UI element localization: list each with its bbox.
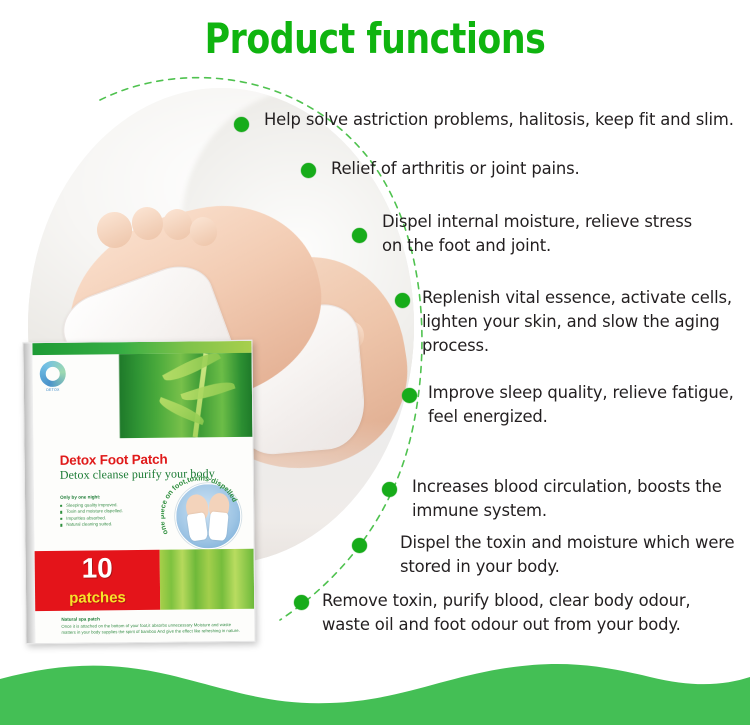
- function-text-sleep: Improve sleep quality, relieve fatigue, …: [428, 381, 742, 429]
- box-bottom-heading: Natural spa patch: [61, 616, 100, 621]
- inset-patch: [186, 513, 208, 542]
- box-feature-item: Natural cleaning suited.: [60, 521, 123, 528]
- product-package-image: DETOX Detox Foot Patch Detox cleanse pur…: [22, 340, 255, 644]
- brand-logo-icon: DETOX: [40, 361, 66, 387]
- box-feet-inset-photo: [175, 483, 242, 550]
- bullet-dot-vital-essence: [395, 293, 410, 308]
- logo-text: DETOX: [40, 388, 66, 392]
- box-quantity-word: patches: [69, 590, 126, 606]
- box-product-title: Detox Foot Patch: [60, 452, 168, 468]
- inset-patch: [208, 512, 228, 542]
- box-bottom-description: Once it is attached on the bottom of you…: [61, 622, 246, 636]
- bottom-green-wave: [0, 645, 750, 725]
- function-text-toxin-stored: Dispel the toxin and moisture which were…: [400, 531, 742, 579]
- bullet-dot-arthritis: [301, 163, 316, 178]
- box-feature-heading: Only by one night:: [60, 494, 100, 499]
- bamboo-artwork-top: [116, 353, 253, 438]
- wave-shape: [0, 664, 750, 725]
- box-quantity-number: 10: [81, 554, 112, 582]
- bamboo-leaf: [181, 377, 236, 405]
- box-front-face: DETOX Detox Foot Patch Detox cleanse pur…: [32, 341, 254, 643]
- bullet-dot-moisture: [352, 228, 367, 243]
- page-title: Product functions: [30, 14, 720, 63]
- function-text-remove-toxin: Remove toxin, purify blood, clear body o…: [322, 589, 740, 637]
- function-text-moisture: Dispel internal moisture, relieve stress…: [382, 210, 714, 258]
- product-functions-infographic: Product functions Help solve astriction …: [0, 0, 750, 725]
- function-text-astriction: Help solve astriction problems, halitosi…: [264, 108, 750, 132]
- function-text-circulation: Increases blood circulation, boosts the …: [412, 475, 742, 523]
- bamboo-artwork-bottom: [159, 549, 254, 610]
- logo-center: [46, 367, 60, 381]
- function-text-vital-essence: Replenish vital essence, activate cells,…: [422, 286, 740, 358]
- bullet-dot-remove-toxin: [294, 595, 309, 610]
- box-quantity-badge: 10 patches: [35, 550, 160, 611]
- bullet-dot-sleep: [402, 388, 417, 403]
- box-feature-list: Sleeping quality improved. Toxin and moi…: [60, 502, 123, 528]
- bullet-dot-circulation: [382, 482, 397, 497]
- bullet-dot-toxin-stored: [352, 538, 367, 553]
- function-text-arthritis: Relief of arthritis or joint pains.: [331, 157, 750, 181]
- bullet-dot-astriction: [234, 117, 249, 132]
- bamboo-leaf: [162, 347, 221, 387]
- box-product-subtitle: Detox cleanse purify your body: [60, 466, 215, 483]
